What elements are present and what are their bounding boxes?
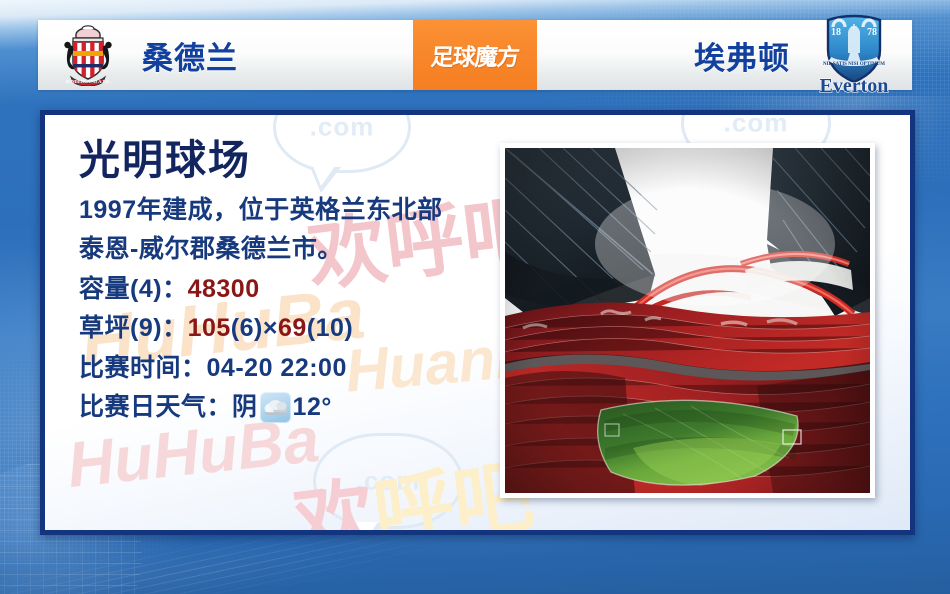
pitch-length-rank: (6) (231, 314, 263, 342)
capacity-label: 容量(4) (79, 275, 162, 303)
away-team-name: 埃弗顿 (694, 33, 790, 78)
site-logo[interactable]: 足球魔方 (413, 20, 537, 90)
stadium-info-text: 光明球场 1997年建成，位于英格兰东北部 泰恩-威尔郡桑德兰市。 容量(4)：… (79, 137, 479, 428)
capacity-line: 容量(4)：48300 (79, 270, 479, 310)
page-title: 光明球场 (79, 137, 479, 185)
stadium-photo-frame[interactable] (500, 143, 875, 498)
watermark-speech-bubble-bottom: .com (313, 433, 463, 529)
description-line-2: 泰恩-威尔郡桑德兰市。 (79, 230, 479, 270)
site-logo-text: 足球魔方 (430, 38, 521, 72)
cloudy-weather-icon (260, 392, 291, 423)
pitch-times-symbol: × (263, 314, 278, 342)
everton-crest-icon: 18 78 NIL SATIS NISI OPTIMUM Everton (806, 13, 902, 97)
sunderland-crest-icon: SUNDERLAND A.F.C. (56, 24, 120, 86)
weather-condition: 阴 (232, 388, 258, 428)
pitch-label: 草坪(9) (79, 314, 162, 342)
stadium-info-panel: .com .com .com 欢呼吧 欢呼吧 HuHuBa HuanBa HuH… (40, 110, 915, 535)
everton-crest-year-right: 78 (867, 27, 877, 38)
pitch-length: 105 (188, 314, 231, 342)
capacity-value: 48300 (188, 275, 260, 303)
everton-crest-year-left: 18 (831, 27, 841, 38)
panel-inner: .com .com .com 欢呼吧 欢呼吧 HuHuBa HuanBa HuH… (45, 115, 910, 530)
weather-label: 比赛日天气 (79, 388, 207, 428)
match-time-label: 比赛时间 (79, 354, 181, 382)
stadium-interior-photo (505, 148, 870, 493)
weather-line: 比赛日天气：阴 12° (79, 388, 479, 428)
everton-crest-caption: Everton (820, 75, 889, 97)
capacity-separator: ： (162, 275, 188, 303)
bubble-tail (353, 523, 384, 530)
weather-separator: ： (207, 388, 233, 428)
home-team-block[interactable]: SUNDERLAND A.F.C. 桑德兰 (38, 20, 238, 90)
home-team-name: 桑德兰 (142, 33, 238, 78)
away-team-block[interactable]: 埃弗顿 18 78 NIL SATIS NISI OPTIMUM (694, 20, 912, 90)
match-time-separator: ： (181, 354, 207, 382)
description-line-1: 1997年建成，位于英格兰东北部 (79, 191, 479, 231)
weather-temperature: 12° (293, 388, 332, 428)
match-time-line: 比赛时间：04-20 22:00 (79, 349, 479, 389)
pitch-width: 69 (278, 314, 307, 342)
pitch-separator: ： (162, 314, 188, 342)
sunderland-crest-caption: SUNDERLAND A.F.C. (65, 79, 110, 84)
pitch-line: 草坪(9)：105(6)×69(10) (79, 309, 479, 349)
pitch-width-rank: (10) (307, 314, 353, 342)
match-time-value: 04-20 22:00 (207, 354, 347, 382)
everton-crest-motto: NIL SATIS NISI OPTIMUM (823, 62, 885, 67)
match-header-bar: SUNDERLAND A.F.C. 桑德兰 足球魔方 埃弗顿 (38, 20, 912, 90)
